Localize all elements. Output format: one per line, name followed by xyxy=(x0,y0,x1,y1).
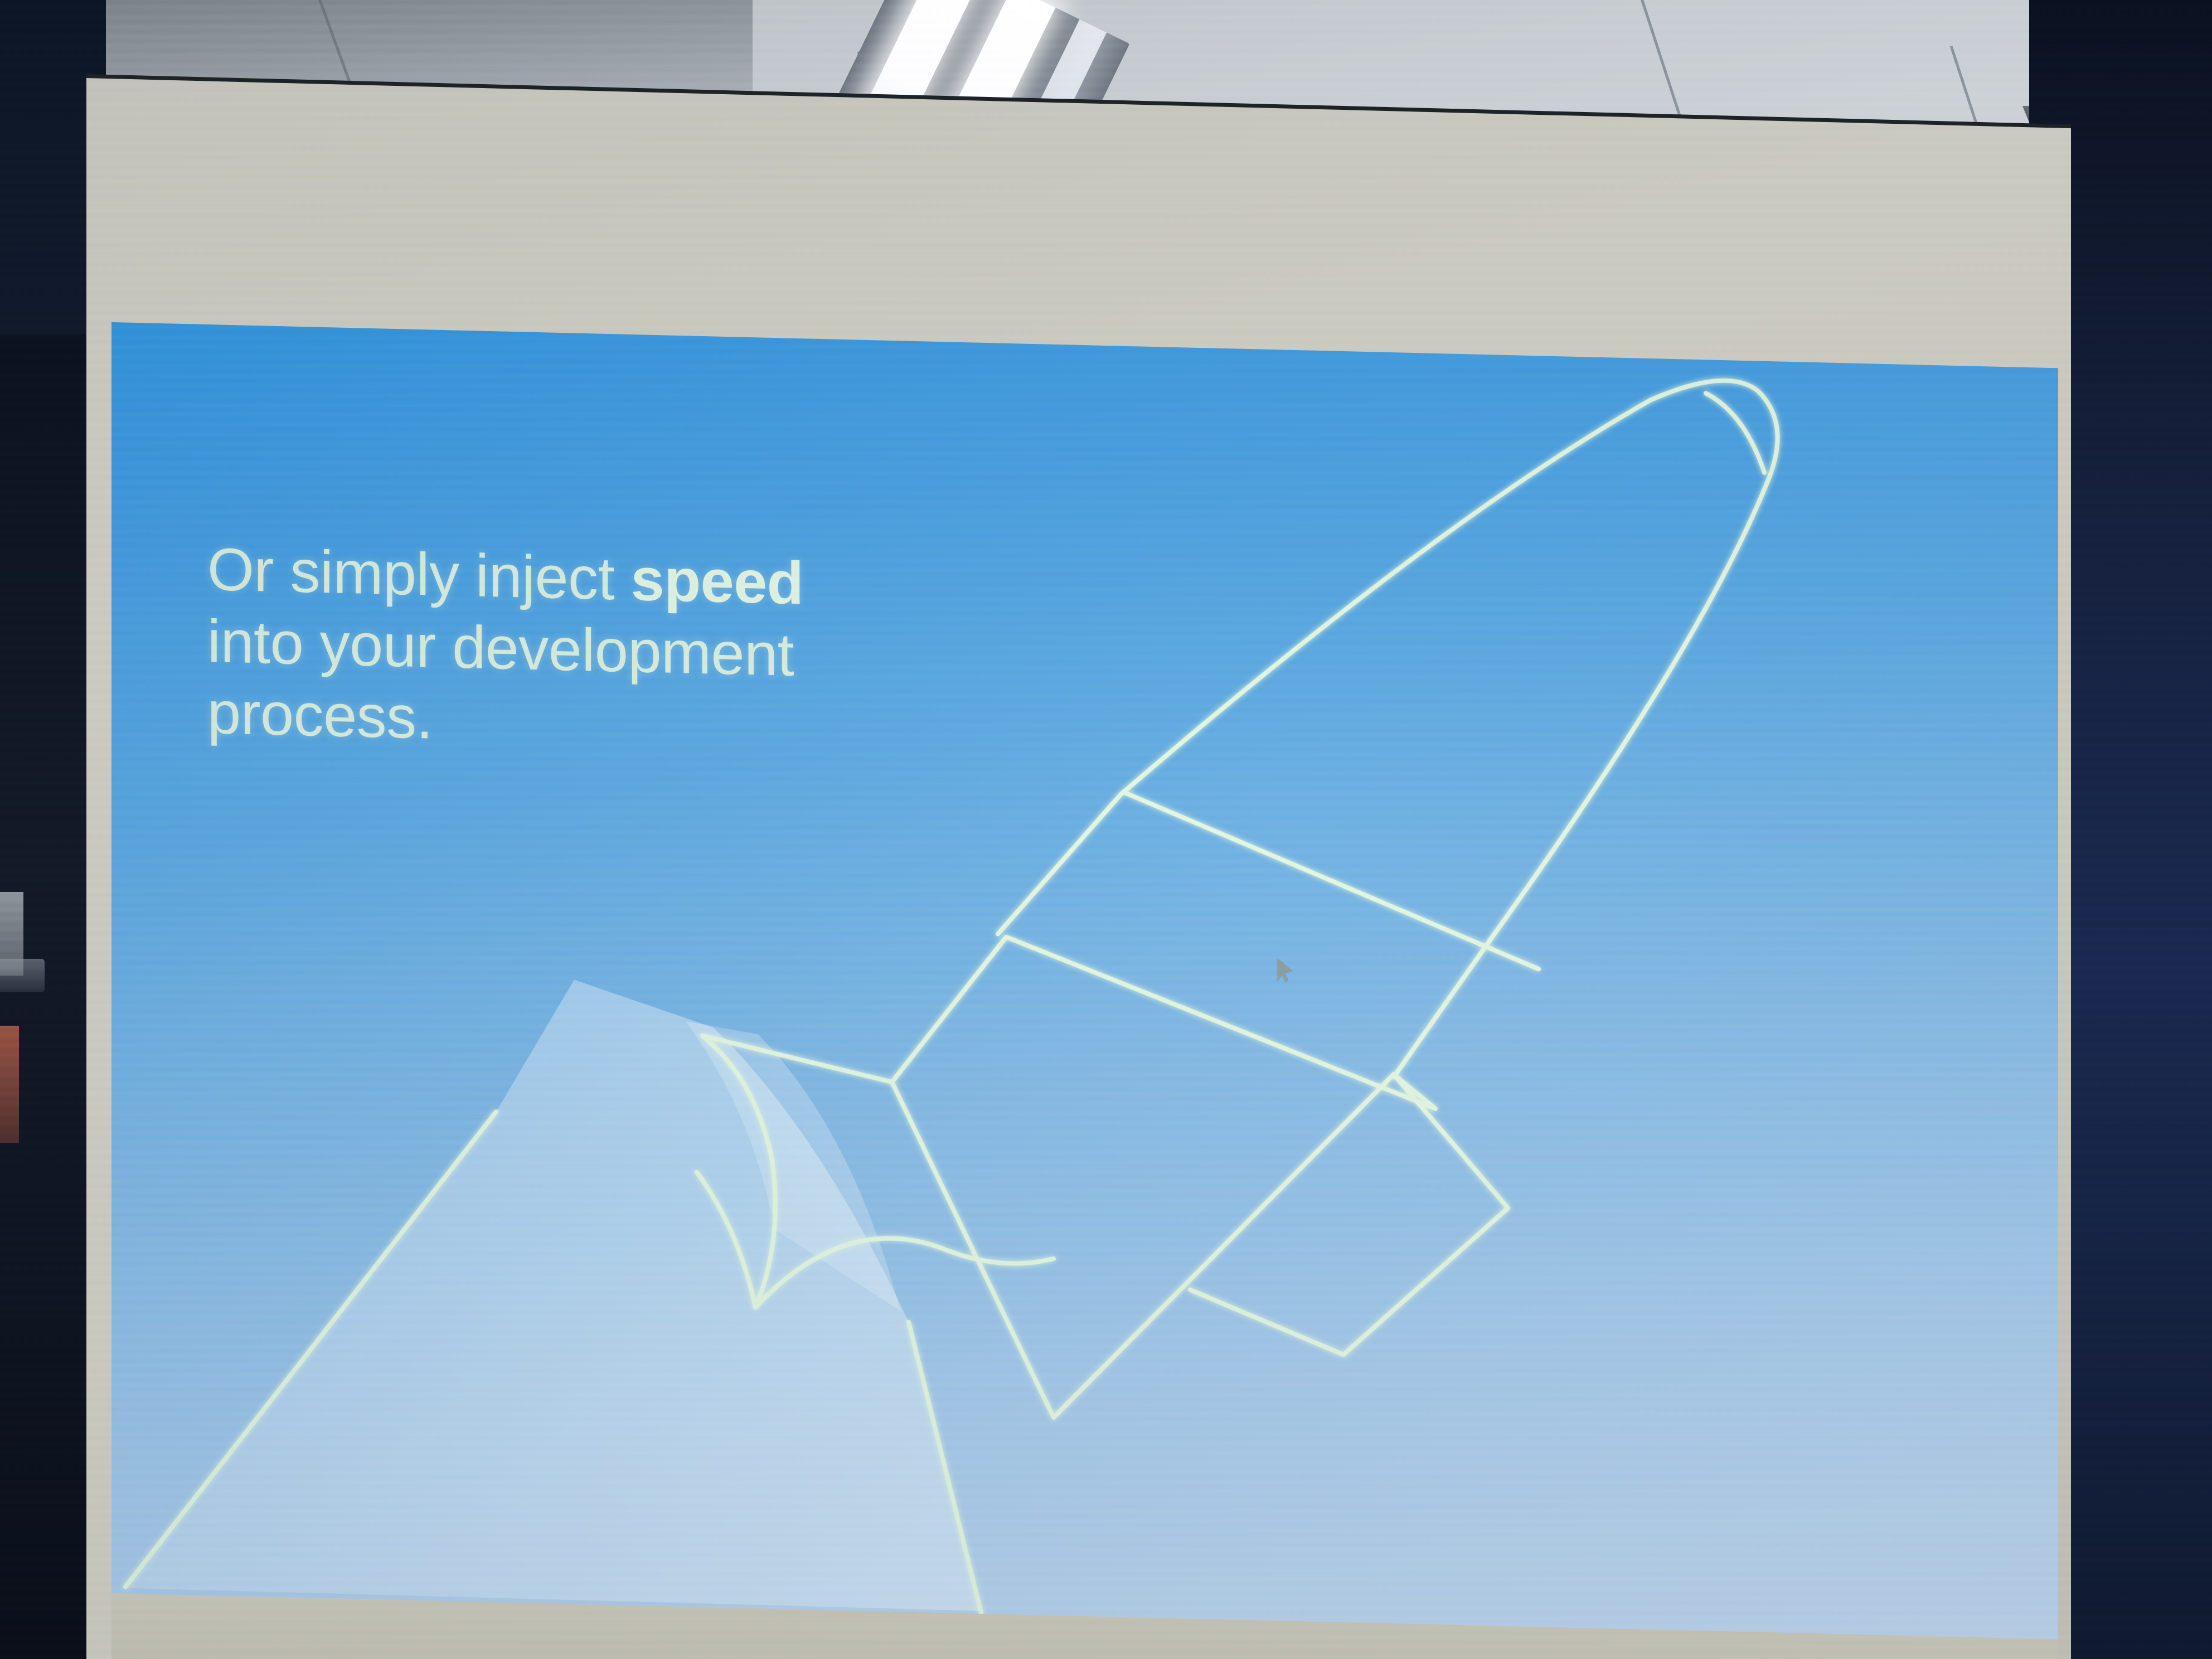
slide-text-line3: process. xyxy=(207,678,433,751)
slide-text-emphasis: speed xyxy=(631,545,804,617)
rocket-separation-line-lower xyxy=(1006,937,1435,1109)
rocket-exhaust-trail xyxy=(123,969,981,1611)
rocket-separation-line-upper xyxy=(1123,792,1539,969)
rocket-illustration xyxy=(111,322,2058,1639)
rocket-nose-tip xyxy=(1706,393,1764,472)
slide-text-line2: into your development xyxy=(207,607,794,688)
slide-text-block: Or simply inject speedinto your developm… xyxy=(207,533,1044,768)
rocket-nose-and-body xyxy=(998,363,1778,1086)
rocket-right-fin xyxy=(1190,1070,1508,1359)
rocket-engine-section xyxy=(892,934,1394,1425)
door-handle xyxy=(0,959,45,992)
red-wall-object xyxy=(0,1026,19,1143)
slide-text-line1-prefix: Or simply inject xyxy=(207,535,631,613)
presentation-slide: Or simply inject speedinto your developm… xyxy=(111,322,2058,1639)
screenshot-scene: Or simply inject speedinto your developm… xyxy=(0,0,2212,1659)
